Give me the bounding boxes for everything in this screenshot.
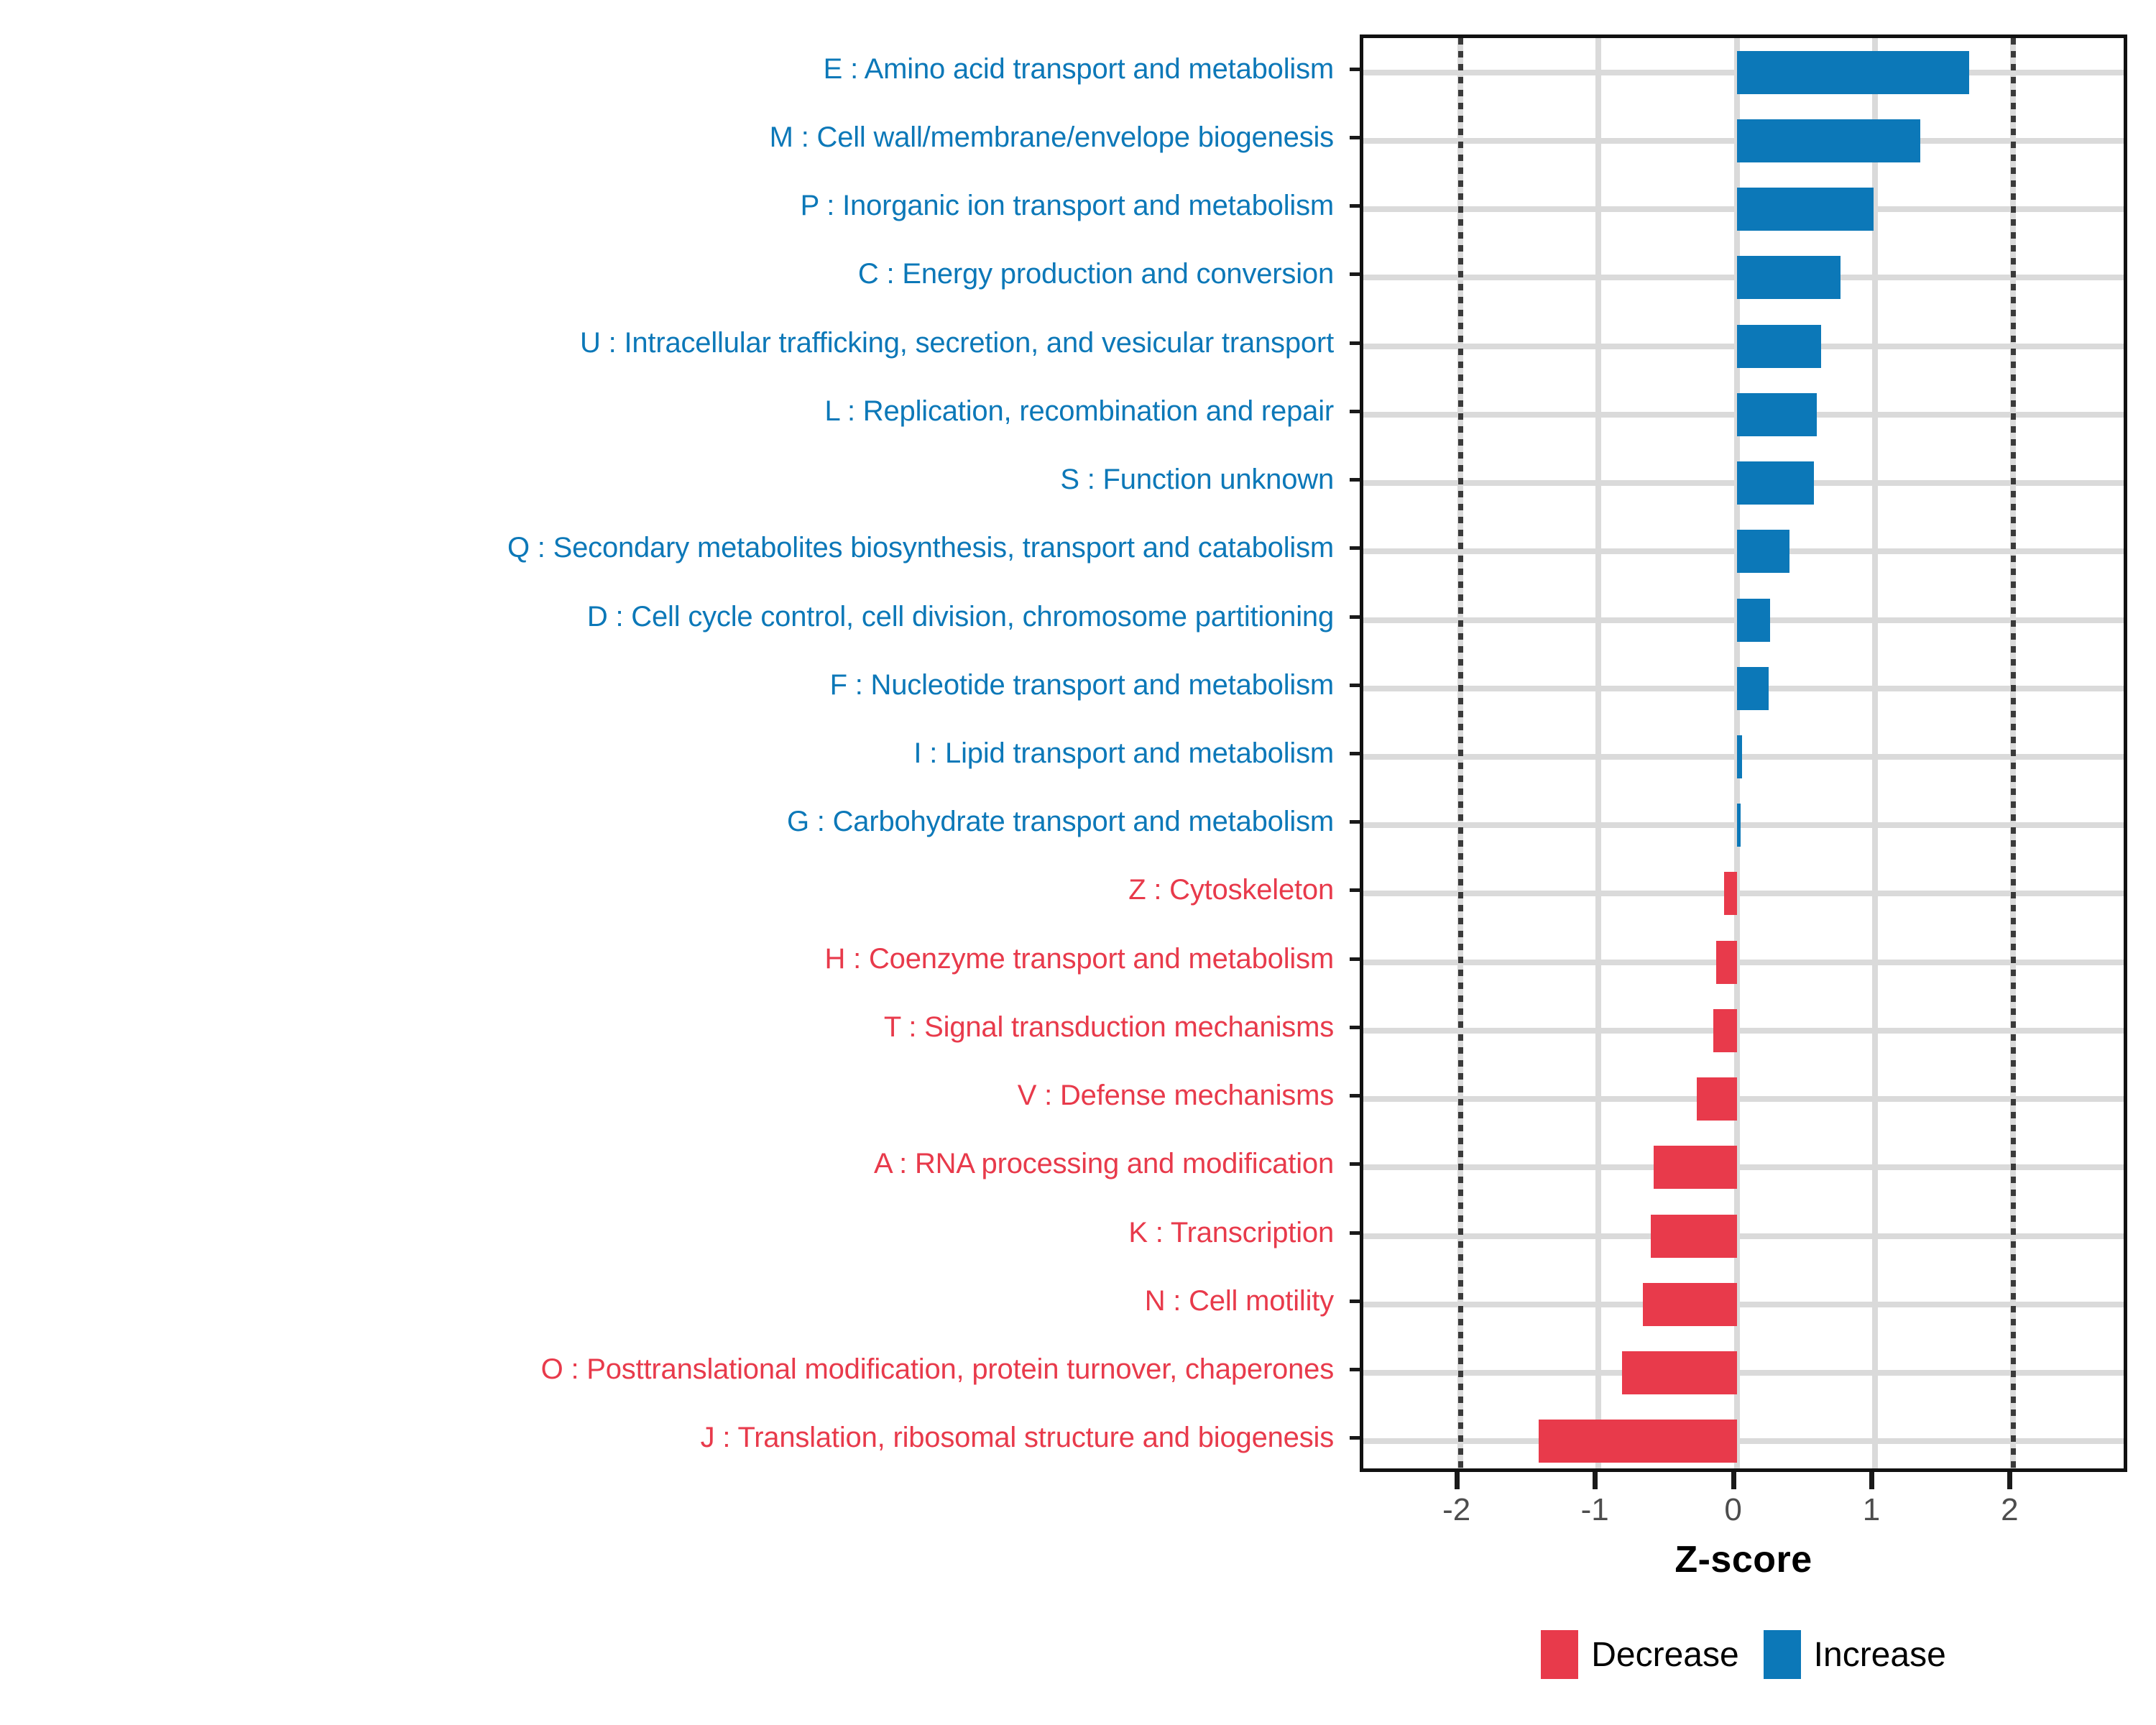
bar[interactable] [1539, 1420, 1736, 1463]
x-axis-tick [1455, 1472, 1460, 1489]
bar[interactable] [1713, 1009, 1737, 1052]
x-axis-tick [1731, 1472, 1736, 1489]
y-axis-tick [1350, 68, 1360, 71]
gridline-horizontal [1363, 822, 2124, 828]
y-axis-tick [1350, 546, 1360, 550]
legend-item-decrease[interactable]: Decrease [1541, 1630, 1738, 1679]
legend-swatch-increase [1764, 1630, 1801, 1679]
gridline-horizontal [1363, 1233, 2124, 1239]
bar[interactable] [1716, 941, 1737, 984]
y-axis-tick [1350, 615, 1360, 619]
x-axis-tick [1593, 1472, 1598, 1489]
y-axis-tick [1350, 204, 1360, 208]
x-axis-tick-label: -1 [1581, 1492, 1609, 1528]
x-axis-title: Z-score [1360, 1538, 2127, 1581]
y-axis-tick [1350, 1368, 1360, 1371]
y-axis-labels: E : Amino acid transport and metabolismM… [0, 34, 1350, 1472]
y-axis-tick [1350, 272, 1360, 276]
bar[interactable] [1737, 188, 1874, 231]
y-axis-tick [1350, 1299, 1360, 1303]
legend-swatch-decrease [1541, 1630, 1578, 1679]
bar[interactable] [1737, 804, 1741, 847]
x-axis-tick [1869, 1472, 1874, 1489]
gridline-horizontal [1363, 754, 2124, 760]
bar[interactable] [1643, 1283, 1737, 1326]
bar[interactable] [1737, 461, 1815, 505]
bar[interactable] [1737, 51, 1969, 94]
y-axis-tick [1350, 684, 1360, 687]
y-axis-tick [1350, 1026, 1360, 1029]
bar[interactable] [1737, 735, 1743, 778]
plot-area [1363, 38, 2124, 1468]
bar[interactable] [1737, 599, 1770, 642]
x-axis-tick-label: 2 [2001, 1492, 2018, 1528]
bar[interactable] [1697, 1077, 1737, 1121]
gridline-horizontal [1363, 960, 2124, 965]
gridline-horizontal [1363, 891, 2124, 896]
bar[interactable] [1737, 667, 1769, 710]
y-axis-tick [1350, 888, 1360, 892]
bar[interactable] [1737, 325, 1821, 368]
y-axis-tick [1350, 136, 1360, 139]
gridline-horizontal [1363, 1302, 2124, 1307]
gridline-horizontal [1363, 1028, 2124, 1034]
y-axis-tick [1350, 820, 1360, 824]
y-axis-tick [1350, 1162, 1360, 1166]
y-axis-tick [1350, 957, 1360, 961]
x-axis-tick-label: 0 [1724, 1492, 1741, 1528]
bar[interactable] [1651, 1215, 1736, 1258]
y-axis-tick [1350, 1436, 1360, 1440]
legend-label-decrease: Decrease [1591, 1635, 1738, 1675]
gridline-vertical [1872, 38, 1878, 1468]
bar[interactable] [1737, 530, 1789, 573]
gridline-horizontal [1363, 1164, 2124, 1170]
x-axis-tick [2007, 1472, 2012, 1489]
y-axis-tick [1350, 1094, 1360, 1098]
gridline-horizontal [1363, 1370, 2124, 1376]
y-axis-tick [1350, 478, 1360, 482]
bar[interactable] [1737, 119, 1921, 162]
y-axis-tick [1350, 410, 1360, 413]
gridline-vertical [1595, 38, 1601, 1468]
legend-item-increase[interactable]: Increase [1764, 1630, 1946, 1679]
bar[interactable] [1622, 1351, 1737, 1394]
reference-line [2011, 38, 2016, 1468]
x-axis-tick-label: 1 [1863, 1492, 1880, 1528]
y-axis-tick [1350, 341, 1360, 345]
chart-legend: Decrease Increase [1360, 1630, 2127, 1679]
gridline-horizontal [1363, 1096, 2124, 1102]
reference-line [1458, 38, 1463, 1468]
bar[interactable] [1654, 1146, 1736, 1189]
bar[interactable] [1737, 256, 1841, 299]
bar[interactable] [1737, 393, 1818, 436]
legend-label-increase: Increase [1814, 1635, 1946, 1675]
y-axis-tick [1350, 752, 1360, 755]
plot-panel [1360, 34, 2127, 1472]
x-axis-tick-label: -2 [1442, 1492, 1470, 1528]
y-axis-tick [1350, 1231, 1360, 1235]
bar[interactable] [1724, 872, 1736, 915]
gridline-horizontal [1363, 1438, 2124, 1444]
chart-root: E : Amino acid transport and metabolismM… [0, 0, 2156, 1725]
